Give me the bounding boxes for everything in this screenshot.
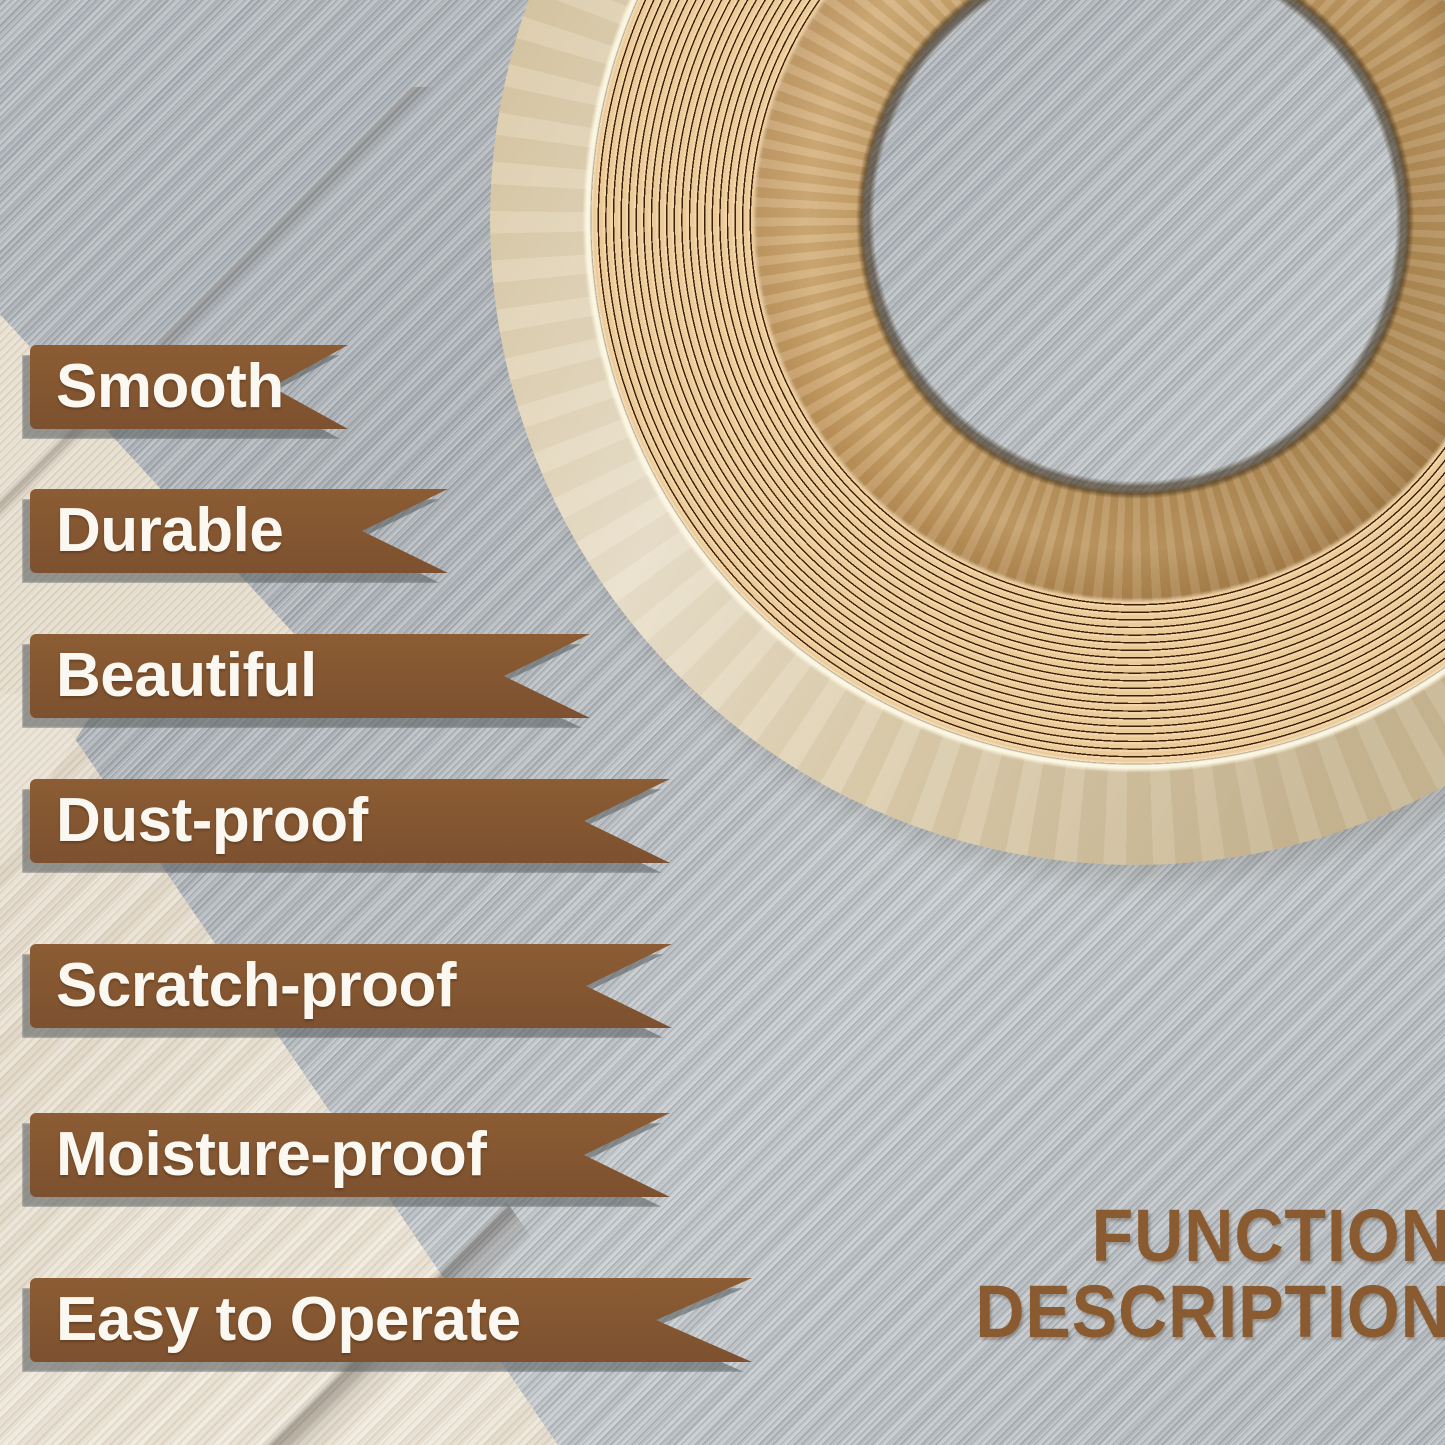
feature-label: Beautiful xyxy=(30,645,317,707)
function-description-heading: FUNCTION DESCRIPTION xyxy=(976,1198,1445,1349)
heading-line-1: FUNCTION xyxy=(976,1198,1445,1273)
feature-banner: Scratch-proof xyxy=(30,944,672,1028)
feature-banner: Durable xyxy=(30,489,448,573)
feature-label: Easy to Operate xyxy=(30,1289,521,1351)
feature-label: Scratch-proof xyxy=(30,955,456,1017)
feature-banner: Smooth xyxy=(30,345,348,429)
feature-label: Moisture-proof xyxy=(30,1124,486,1186)
feature-label: Smooth xyxy=(30,356,284,418)
feature-banner: Dust-proof xyxy=(30,779,670,863)
product-feature-image: Smooth Durable Beautiful Dust-proof Scra… xyxy=(0,0,1445,1445)
feature-banner: Easy to Operate xyxy=(30,1278,752,1362)
feature-banner: Moisture-proof xyxy=(30,1113,670,1197)
heading-line-2: DESCRIPTION xyxy=(976,1274,1445,1349)
feature-label: Dust-proof xyxy=(30,790,368,852)
feature-label: Durable xyxy=(30,500,283,562)
feature-banner: Beautiful xyxy=(30,634,590,718)
